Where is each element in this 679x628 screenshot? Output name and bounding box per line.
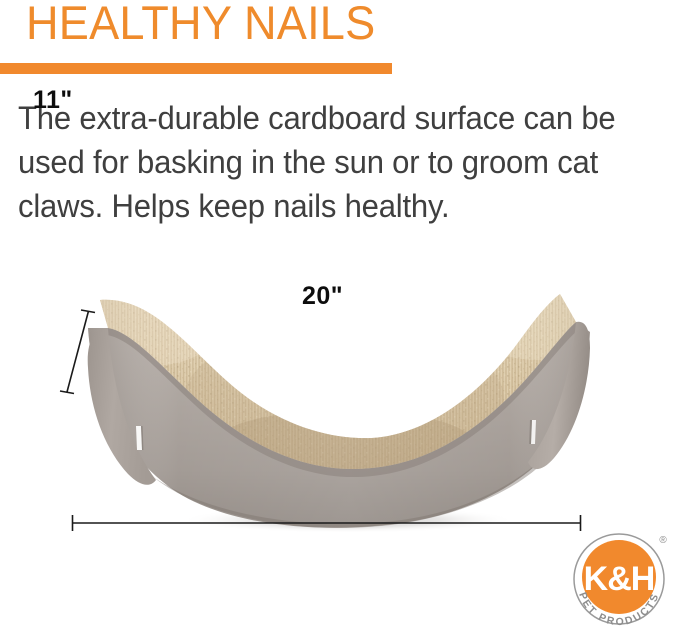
product-infographic: HEALTHY NAILS The extra-durable cardboar… xyxy=(0,0,679,628)
logo-wordmark: K&H xyxy=(584,560,655,598)
height-dimension-line xyxy=(60,310,95,394)
title-underline-rule xyxy=(0,63,392,74)
logo-registered-icon: ® xyxy=(659,535,667,546)
width-dimension-label: 20" xyxy=(302,282,343,311)
width-dimension-line xyxy=(72,515,581,531)
description-text: The extra-durable cardboard surface can … xyxy=(18,96,645,228)
height-dimension-label: 11" xyxy=(33,86,73,115)
page-title: HEALTHY NAILS xyxy=(26,0,375,52)
kh-pet-products-logo: ® K&H PET PRODUCTS xyxy=(564,524,674,628)
